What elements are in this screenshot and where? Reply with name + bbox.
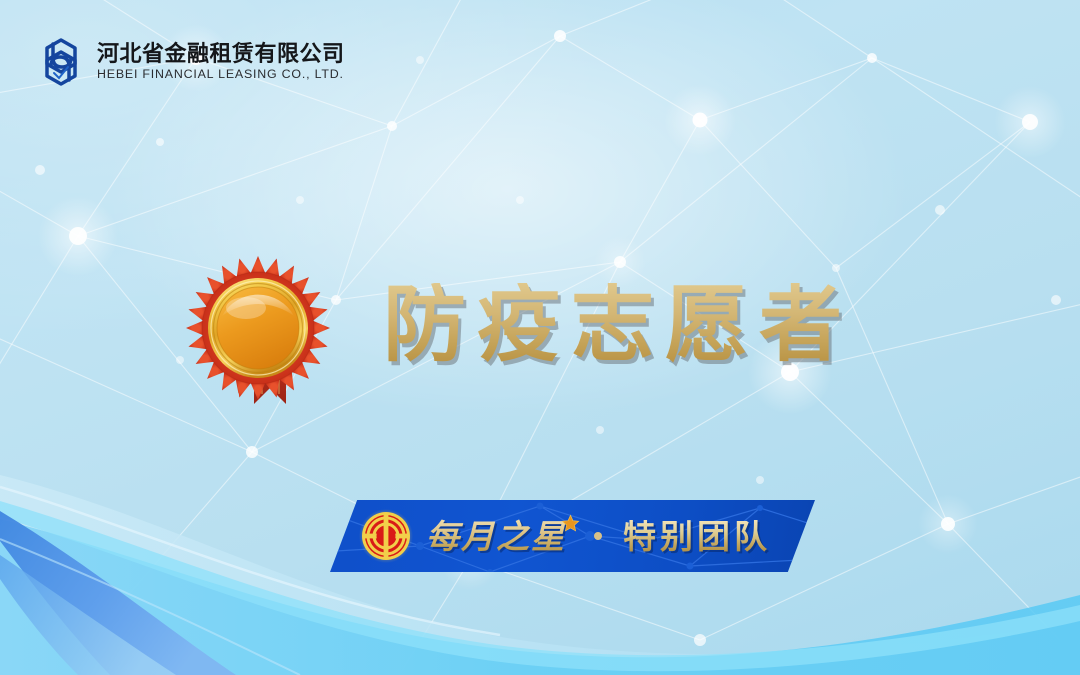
award-rosette-icon — [182, 232, 334, 412]
company-name-cn: 河北省金融租赁有限公司 — [97, 42, 345, 67]
separator-dot — [594, 532, 602, 540]
company-logo: 河北省金融租赁有限公司 HEBEI FINANCIAL LEASING CO.,… — [36, 36, 345, 88]
chinese-trade-union-emblem — [358, 508, 414, 564]
page-title: 防疫志愿者 — [383, 283, 853, 366]
banner-text-group: 每月之星 特别团队 — [426, 520, 771, 553]
monthly-star-label: 每月之星 — [426, 518, 566, 555]
special-team-label: 特别团队 — [623, 520, 771, 553]
award-banner: 每月之星 特别团队 — [330, 500, 815, 572]
company-name-en: HEBEI FINANCIAL LEASING CO., LTD. — [97, 68, 345, 82]
monthly-star-phrase: 每月之星 — [426, 520, 566, 553]
star-icon — [561, 514, 580, 533]
hexagon-interlock-mark — [36, 36, 86, 88]
poster-canvas: 河北省金融租赁有限公司 HEBEI FINANCIAL LEASING CO.,… — [0, 0, 1080, 675]
